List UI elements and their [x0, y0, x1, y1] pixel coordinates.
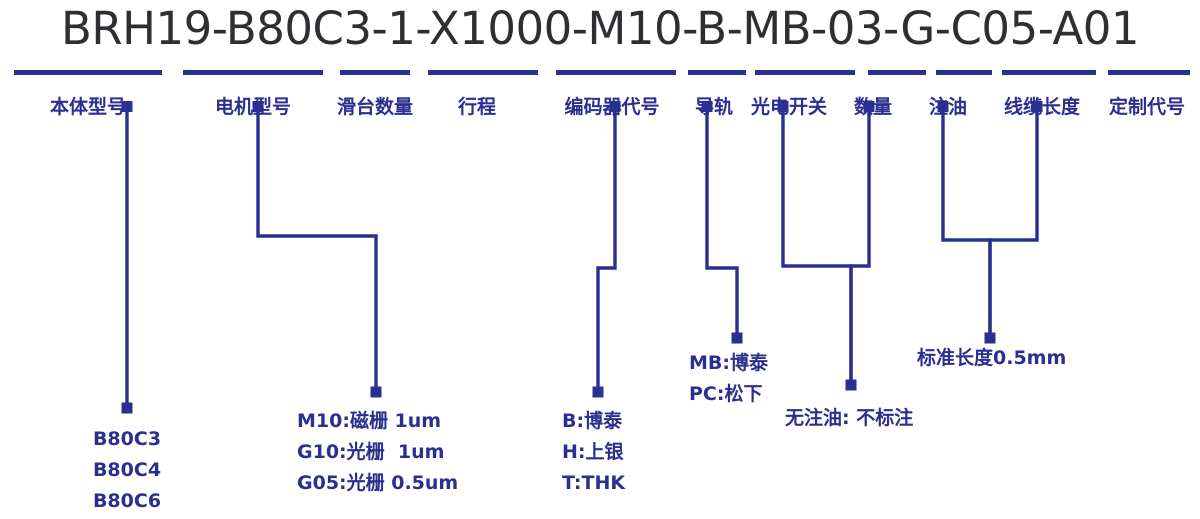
note-line: B80C4: [93, 455, 161, 486]
leader-origin-marker-cable_length: [1032, 101, 1043, 112]
leader-path-motor_model: [258, 110, 376, 392]
leader-path-photo_switch: [783, 110, 851, 385]
note-line: M10:磁栅 1um: [297, 406, 458, 437]
note-body_model_options: B80C3B80C4B80C6: [93, 424, 161, 516]
leader-oiling: [938, 101, 996, 344]
note-photo_switch_options: MB:博泰PC:松下: [689, 348, 768, 410]
note-oiling_note: 无注油: 不标注: [785, 403, 913, 434]
note-line: B:博泰: [562, 406, 625, 437]
note-line: MB:博泰: [689, 348, 768, 379]
leader-quantity: [846, 101, 875, 391]
note-line: 标准长度0.5mm: [917, 343, 1066, 374]
leader-origin-marker-encoder_code: [610, 101, 621, 112]
note-cable_length_note: 标准长度0.5mm: [917, 343, 1066, 374]
leader-origin-marker-quantity: [864, 101, 875, 112]
leader-origin-marker-body_model: [122, 101, 133, 112]
leader-path-rail: [707, 110, 737, 338]
note-line: G05:光栅 0.5um: [297, 468, 458, 499]
leader-cable_length: [985, 101, 1043, 344]
leader-path-oiling: [943, 110, 990, 338]
note-line: H:上银: [562, 437, 625, 468]
leader-origin-marker-photo_switch: [778, 101, 789, 112]
note-encoder_options: M10:磁栅 1umG10:光栅 1umG05:光栅 0.5um: [297, 406, 458, 498]
leader-encoder_code: [593, 101, 621, 398]
leader-photo_switch: [778, 101, 857, 391]
note-line: T:THK: [562, 468, 625, 499]
leader-motor_model: [253, 101, 382, 398]
leader-rail: [702, 101, 743, 344]
note-line: G10:光栅 1um: [297, 437, 458, 468]
leader-terminator-motor_model: [371, 387, 382, 398]
note-line: 无注油: 不标注: [785, 403, 913, 434]
leader-origin-marker-rail: [702, 101, 713, 112]
leader-terminator-quantity: [846, 380, 857, 391]
leader-path-quantity: [851, 110, 869, 385]
leader-origin-marker-motor_model: [253, 101, 264, 112]
note-rail_options: B:博泰H:上银T:THK: [562, 406, 625, 498]
leader-terminator-rail: [732, 333, 743, 344]
note-line: B80C6: [93, 486, 161, 517]
leader-terminator-body_model: [122, 403, 133, 414]
leader-body_model: [122, 101, 133, 414]
model-number-breakdown-diagram: BRH19-B80C3-1-X1000-M10-B-MB-03-G-C05-A0…: [0, 0, 1200, 519]
leader-terminator-encoder_code: [593, 387, 604, 398]
note-line: B80C3: [93, 424, 161, 455]
leader-path-encoder_code: [598, 110, 615, 392]
leader-origin-marker-oiling: [938, 101, 949, 112]
leader-terminator-cable_length: [985, 333, 996, 344]
note-line: PC:松下: [689, 379, 768, 410]
leader-path-cable_length: [990, 110, 1037, 338]
